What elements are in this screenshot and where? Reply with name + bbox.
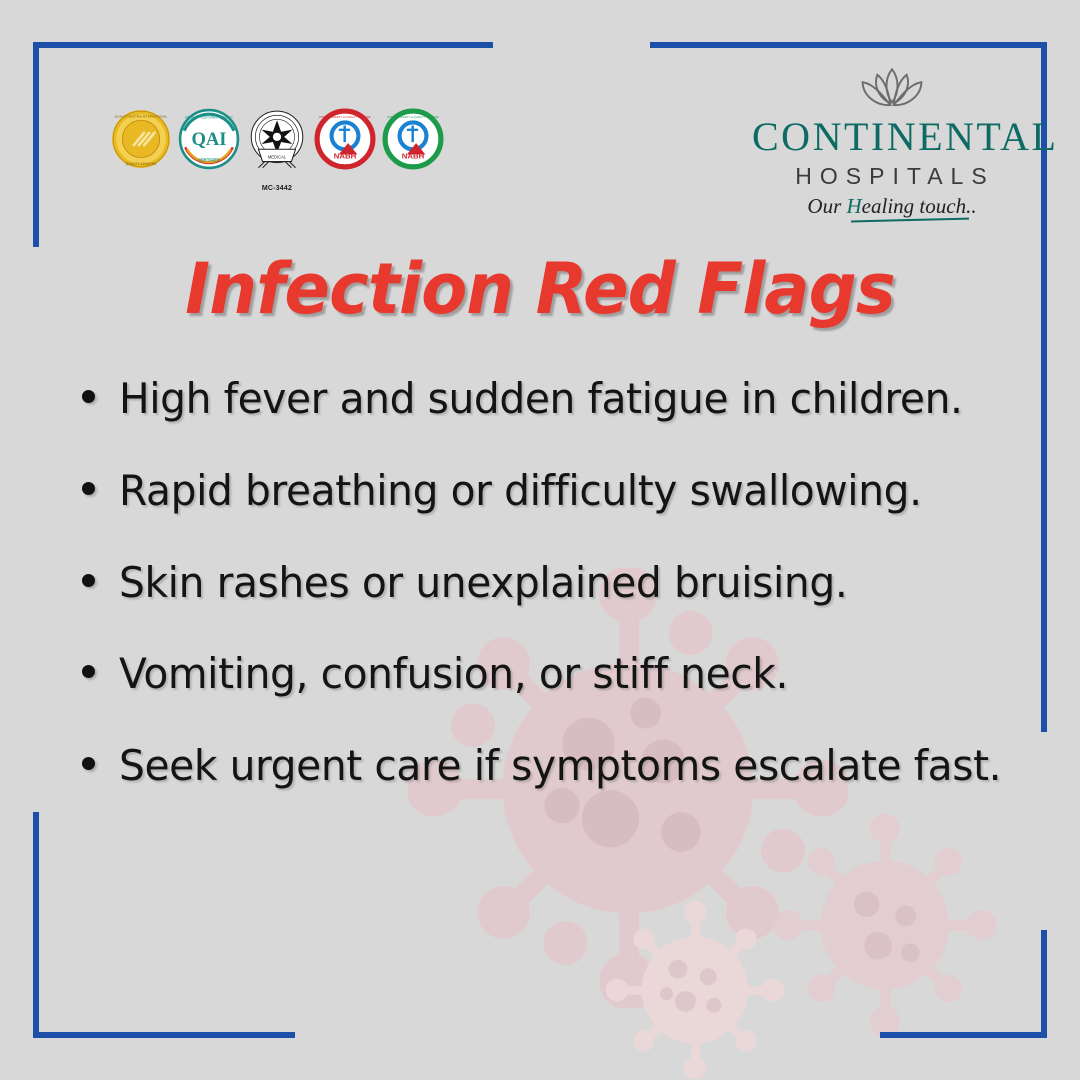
tagline-post: ealing touch..: [862, 194, 977, 218]
svg-text:ACCREDITED HOSPITAL: ACCREDITED HOSPITAL: [398, 163, 429, 167]
list-item-label: Vomiting, confusion, or stiff neck.: [119, 647, 788, 701]
bullet-dot-icon: [82, 390, 95, 403]
mc-star-emblem-badge: MEDICAL MC-3442: [246, 108, 308, 190]
logo-tagline: Our Healing touch..: [807, 196, 976, 217]
red-flags-list: High fever and sudden fatigue in childre…: [82, 372, 1040, 831]
list-item: High fever and sudden fatigue in childre…: [82, 372, 1040, 426]
svg-text:CERTIFIED: CERTIFIED: [198, 158, 220, 163]
list-item: Seek urgent care if symptoms escalate fa…: [82, 739, 1040, 793]
bullet-dot-icon: [82, 574, 95, 587]
svg-text:PATIENT SAFETY & QUALITY OF CA: PATIENT SAFETY & QUALITY OF CARE: [319, 115, 370, 119]
lotus-icon: [837, 62, 947, 113]
svg-text:MARK OF SUSTAINED QUALITY: MARK OF SUSTAINED QUALITY: [185, 115, 234, 119]
svg-text:QAI: QAI: [191, 129, 226, 150]
svg-text:MEDICAL: MEDICAL: [268, 154, 287, 159]
infographic-poster: QUALITY AUSTRIA INTERNATIONAL QUALITY AS…: [0, 0, 1080, 1080]
svg-text:PATIENT SAFETY & QUALITY OF CA: PATIENT SAFETY & QUALITY OF CARE: [387, 115, 438, 119]
list-item: Skin rashes or unexplained bruising.: [82, 556, 1040, 610]
accreditation-badge-row: QUALITY AUSTRIA INTERNATIONAL QUALITY AS…: [110, 108, 444, 190]
qai-certified-badge: QAI MARK OF SUSTAINED QUALITY CERTIFIED …: [178, 108, 240, 170]
nabh-green-badge: NABH PATIENT SAFETY & QUALITY OF CARE AC…: [382, 108, 444, 170]
list-item-label: Seek urgent care if symptoms escalate fa…: [119, 739, 1001, 793]
mc-badge-label: MC-3442: [246, 185, 308, 192]
svg-text:NABH: NABH: [402, 152, 425, 161]
tagline-highlight: H: [847, 194, 862, 218]
list-item-label: Rapid breathing or difficulty swallowing…: [119, 464, 922, 518]
bullet-dot-icon: [82, 482, 95, 495]
bullet-dot-icon: [82, 665, 95, 678]
logo-brand-name: CONTINENTAL: [752, 117, 1032, 157]
gold-quality-seal-badge: QUALITY AUSTRIA INTERNATIONAL QUALITY AS…: [110, 108, 172, 170]
list-item-label: Skin rashes or unexplained bruising.: [119, 556, 847, 610]
svg-text:QUALITY ASSURED: QUALITY ASSURED: [126, 162, 157, 166]
tagline-pre: Our: [807, 194, 846, 218]
page-title: Infection Red Flags: [22, 248, 1059, 330]
svg-text:NABH: NABH: [334, 152, 357, 161]
svg-text:ACCREDITED HOSPITAL: ACCREDITED HOSPITAL: [330, 163, 361, 167]
bullet-dot-icon: [82, 757, 95, 770]
svg-text:QUALITY AUSTRIA INTERNATIONAL: QUALITY AUSTRIA INTERNATIONAL: [115, 114, 168, 118]
nabh-red-badge: NABH PATIENT SAFETY & QUALITY OF CARE AC…: [314, 108, 376, 170]
list-item: Rapid breathing or difficulty swallowing…: [82, 464, 1040, 518]
list-item-label: High fever and sudden fatigue in childre…: [119, 372, 963, 426]
logo-brand-subtitle: HOSPITALS: [752, 165, 1032, 188]
hospital-logo: CONTINENTAL HOSPITALS Our Healing touch.…: [752, 62, 1032, 218]
list-item: Vomiting, confusion, or stiff neck.: [82, 647, 1040, 701]
